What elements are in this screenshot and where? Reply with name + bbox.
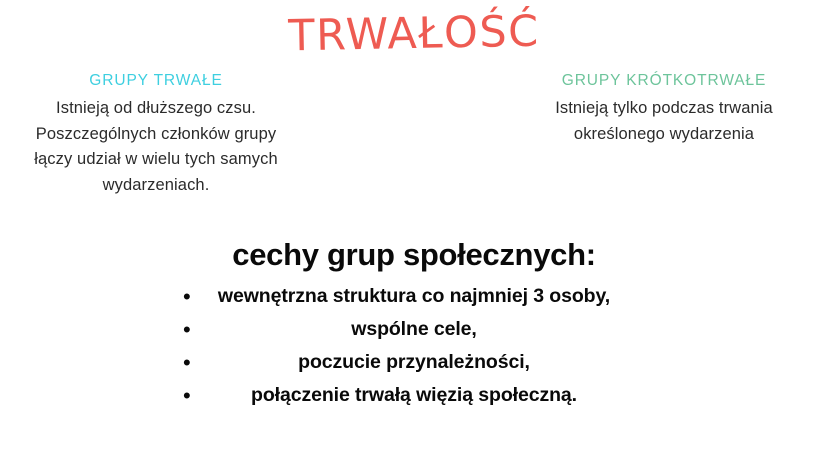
bullet-icon: • xyxy=(183,379,195,412)
column-left-heading: GRUPY TRWAŁE xyxy=(6,70,306,92)
list-item: • poczucie przynależności, xyxy=(0,346,828,379)
slide-canvas: TRWAŁOŚĆ GRUPY TRWAŁE Istnieją od dłuższ… xyxy=(0,0,828,466)
list-item-label: poczucie przynależności, xyxy=(298,346,530,379)
bullet-icon: • xyxy=(183,313,195,346)
bullet-icon: • xyxy=(183,280,195,313)
list-item: • wspólne cele, xyxy=(0,313,828,346)
list-item: • wewnętrzna struktura co najmniej 3 oso… xyxy=(0,280,828,313)
column-right-body: Istnieją tylko podczas trwania określone… xyxy=(500,96,828,147)
list-item-label: wewnętrzna struktura co najmniej 3 osoby… xyxy=(218,280,610,313)
column-left-body: Istnieją od dłuższego czsu. Poszczególny… xyxy=(6,96,306,198)
list-item: • połączenie trwałą więzią społeczną. xyxy=(0,379,828,412)
column-right-body-line: Istnieją tylko podczas trwania xyxy=(500,96,828,122)
features-list: • wewnętrzna struktura co najmniej 3 oso… xyxy=(0,280,828,412)
column-left-body-line: Poszczególnych członków grupy xyxy=(6,122,306,148)
column-left-body-line: Istnieją od dłuższego czsu. xyxy=(6,96,306,122)
bullet-icon: • xyxy=(183,346,195,379)
column-short-lasting-groups: GRUPY KRÓTKOTRWAŁE Istnieją tylko podcza… xyxy=(500,70,828,147)
features-section: cechy grup społecznych: • wewnętrzna str… xyxy=(0,236,828,412)
slide-title: TRWAŁOŚĆ xyxy=(0,0,828,68)
column-right-body-line: określonego wydarzenia xyxy=(500,122,828,148)
column-left-body-line: wydarzeniach. xyxy=(6,173,306,199)
column-left-body-line: łączy udział w wielu tych samych xyxy=(6,147,306,173)
list-item-label: połączenie trwałą więzią społeczną. xyxy=(251,379,577,412)
list-item-label: wspólne cele, xyxy=(351,313,477,346)
column-long-lasting-groups: GRUPY TRWAŁE Istnieją od dłuższego czsu.… xyxy=(6,70,306,198)
features-heading: cechy grup społecznych: xyxy=(0,236,828,274)
column-right-heading: GRUPY KRÓTKOTRWAŁE xyxy=(500,70,828,92)
